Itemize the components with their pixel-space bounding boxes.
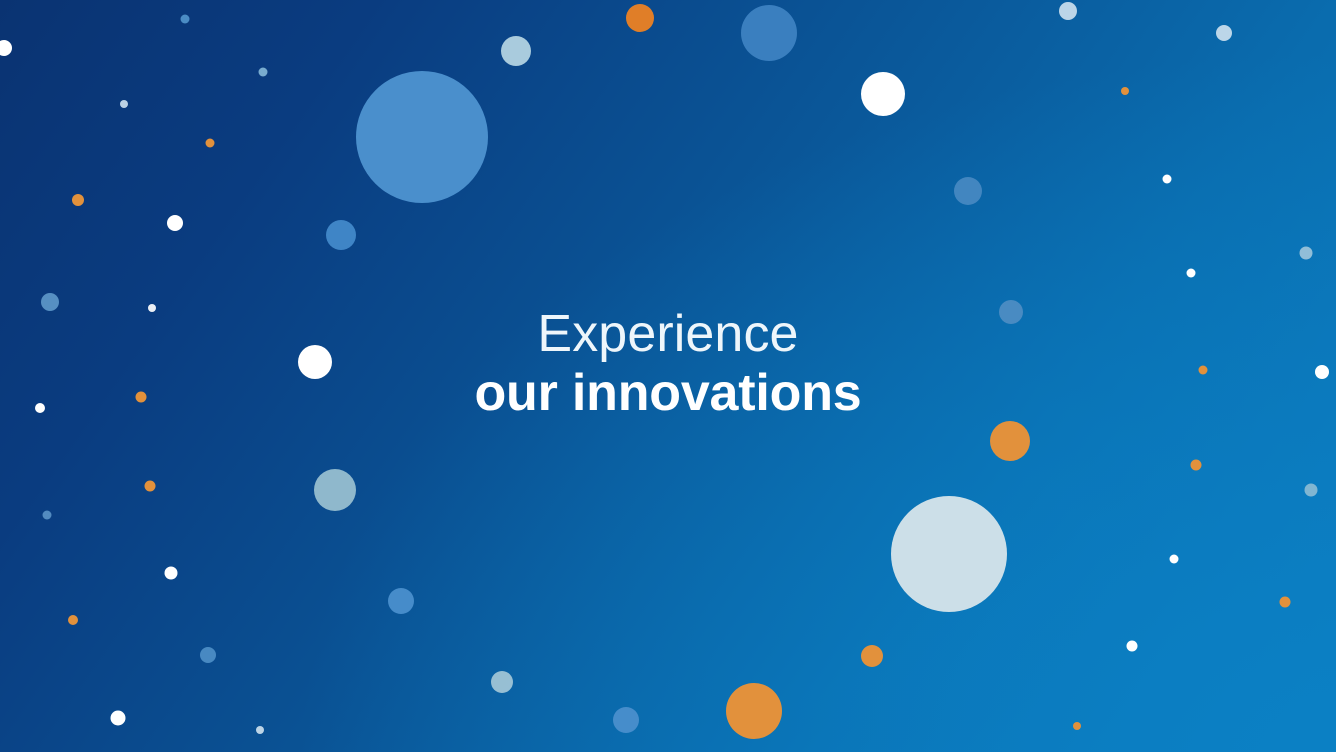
bubble-white-right-lower [1170,555,1179,564]
bubble-blue-dot-left-top-2 [259,68,268,77]
bubble-orange-left-upper [72,194,84,206]
bubble-white-bottom-left [111,711,126,726]
bubble-orange-right-small-2 [1191,460,1202,471]
bubble-steel-left-lower [314,469,356,511]
bubble-pale-bottom-center [491,671,513,693]
bubble-orange-bottom-center [726,683,782,739]
bubble-white-left-upper [167,215,183,231]
bubble-blue-left-upper [326,220,356,250]
bubble-blue-bottom-left-small [200,647,216,663]
slide-canvas: Experience our innovations [0,0,1336,752]
bubble-white-left-lower [165,567,178,580]
bubble-white-bottom-left-tiny [256,726,264,734]
bubble-white-left-edge [0,40,12,56]
bubble-blue-bottom-center-right [613,707,639,733]
bubble-white-bottom-right [1127,641,1138,652]
bubble-white-top-right [861,72,905,116]
headline-line-primary: Experience [0,305,1336,364]
bubble-orange-bottom-left [68,615,78,625]
bubble-orange-top-right-tiny [1121,87,1129,95]
bubble-orange-bottom-right-small [861,645,883,667]
bubble-pale-top-left-edge [501,36,531,66]
bubble-pale-top-right-2 [1216,25,1232,41]
bubble-orange-top-center [626,4,654,32]
bubble-blue-dot-left-top [181,15,190,24]
bubble-pale-right-lower [1305,484,1318,497]
bubble-blue-top-right [741,5,797,61]
bubble-pale-large-bottom-right [891,496,1007,612]
bubble-blue-dot-left-bottom [43,511,52,520]
bubble-blue-right-upper [954,177,982,205]
bubble-pale-right-edge [1300,247,1313,260]
bubble-orange-right-bottom [1280,597,1291,608]
bubble-white-right-mid [1187,269,1196,278]
bubble-blue-large-top-left [356,71,488,203]
bubble-orange-right-mid [990,421,1030,461]
bubble-orange-bottom-right-tiny [1073,722,1081,730]
bubble-orange-left-top [206,139,215,148]
bubble-blue-bottom-left-area [388,588,414,614]
headline-line-emphasis: our innovations [0,364,1336,423]
headline-block: Experience our innovations [0,305,1336,424]
bubble-white-right-upper [1163,175,1172,184]
bubble-pale-top-right [1059,2,1077,20]
bubble-white-left-tiny-2 [120,100,128,108]
bubble-orange-left-lower [145,481,156,492]
